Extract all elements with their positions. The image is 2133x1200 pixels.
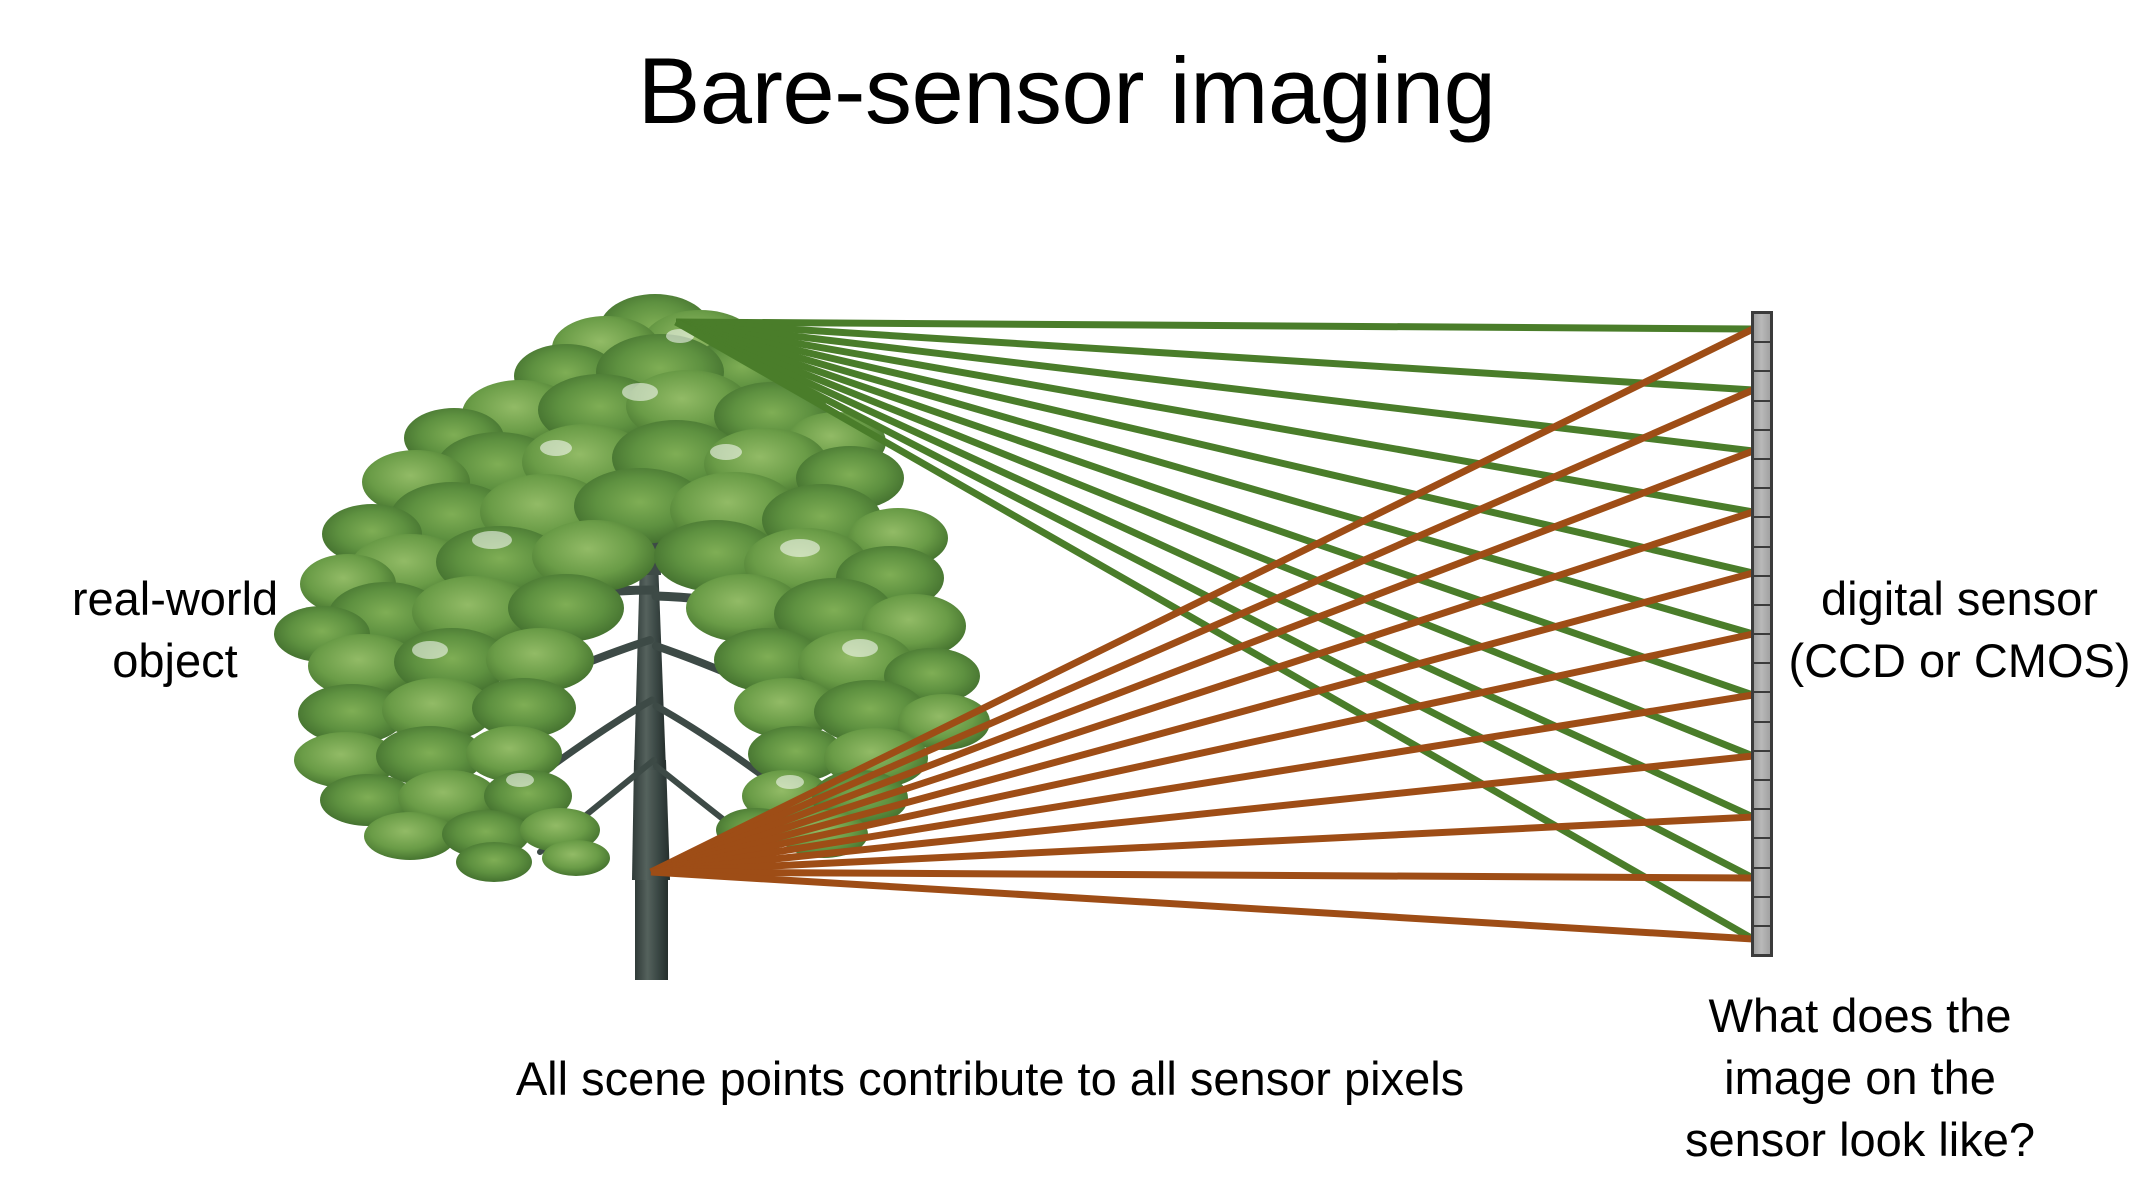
brown-ray — [651, 390, 1753, 872]
real-world-object-label-line2: object — [10, 630, 340, 692]
sensor-pixel[interactable] — [1754, 898, 1770, 927]
green-ray — [676, 322, 1753, 634]
brown-ray — [651, 573, 1753, 872]
sensor-pixel[interactable] — [1754, 723, 1770, 752]
green-ray-fan — [676, 322, 1753, 939]
sensor-question-line1: What does the — [1650, 985, 2070, 1047]
sensor-pixel[interactable] — [1754, 839, 1770, 868]
brown-ray — [651, 329, 1753, 872]
brown-ray — [651, 451, 1753, 872]
real-world-object-label: real-world object — [10, 568, 340, 692]
sensor-pixel[interactable] — [1754, 402, 1770, 431]
green-ray — [676, 322, 1753, 390]
brown-ray — [651, 512, 1753, 872]
sensor-pixel[interactable] — [1754, 752, 1770, 781]
green-ray — [676, 322, 1753, 939]
digital-sensor-label-line2: (CCD or CMOS) — [1786, 630, 2133, 692]
green-ray — [676, 322, 1753, 451]
sensor-pixel[interactable] — [1754, 693, 1770, 722]
sensor-pixel[interactable] — [1754, 606, 1770, 635]
green-ray — [676, 322, 1753, 573]
sensor-question-line3: sensor look like? — [1650, 1109, 2070, 1171]
sensor-pixel[interactable] — [1754, 635, 1770, 664]
tree-image — [274, 294, 990, 980]
tree-branches — [448, 324, 856, 852]
brown-ray — [651, 817, 1753, 872]
brown-ray — [651, 695, 1753, 872]
scene-points-caption: All scene points contribute to all senso… — [380, 1048, 1600, 1109]
sensor-pixel[interactable] — [1754, 781, 1770, 810]
sensor-pixel[interactable] — [1754, 372, 1770, 401]
page-title: Bare-sensor imaging — [0, 42, 2133, 141]
sensor-pixel[interactable] — [1754, 460, 1770, 489]
brown-ray — [651, 756, 1753, 872]
green-ray — [676, 322, 1753, 512]
green-ray — [676, 322, 1753, 756]
green-ray — [676, 322, 1753, 878]
brown-ray — [651, 634, 1753, 872]
green-ray — [676, 322, 1753, 817]
real-world-object-label-line1: real-world — [10, 568, 340, 630]
sensor-pixel[interactable] — [1754, 664, 1770, 693]
sensor-pixel[interactable] — [1754, 343, 1770, 372]
brown-ray — [651, 872, 1753, 939]
sensor-pixel[interactable] — [1754, 869, 1770, 898]
green-ray — [676, 322, 1753, 329]
sensor-pixel[interactable] — [1754, 548, 1770, 577]
sensor-array-icon[interactable] — [1751, 311, 1773, 957]
sensor-pixel[interactable] — [1754, 314, 1770, 343]
sensor-question-caption: What does the image on the sensor look l… — [1650, 985, 2070, 1171]
brown-ray-fan — [651, 329, 1753, 939]
slide-canvas: Bare-sensor imaging — [0, 0, 2133, 1200]
tree-foliage — [274, 294, 990, 882]
sensor-pixel[interactable] — [1754, 489, 1770, 518]
sensor-pixel[interactable] — [1754, 810, 1770, 839]
sensor-pixel[interactable] — [1754, 927, 1770, 954]
digital-sensor-label-line1: digital sensor — [1786, 568, 2133, 630]
brown-ray — [651, 872, 1753, 878]
sensor-pixel[interactable] — [1754, 577, 1770, 606]
sensor-pixel[interactable] — [1754, 518, 1770, 547]
sensor-question-line2: image on the — [1650, 1047, 2070, 1109]
digital-sensor-label: digital sensor (CCD or CMOS) — [1786, 568, 2133, 692]
tree-trunk — [632, 320, 670, 980]
sensor-pixel[interactable] — [1754, 431, 1770, 460]
green-ray — [676, 322, 1753, 695]
